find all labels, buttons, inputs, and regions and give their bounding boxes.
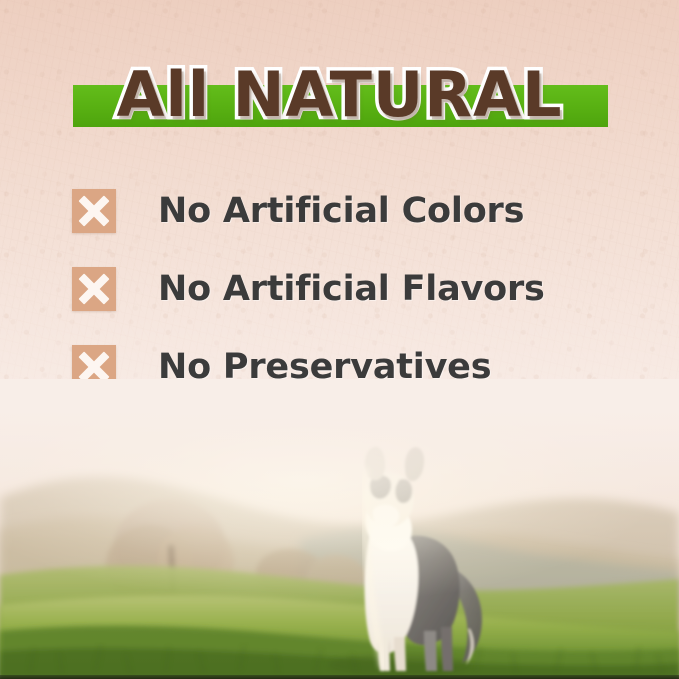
- banner-title: All NATURAL: [0, 50, 679, 140]
- photo-bottom-edge: [0, 675, 679, 679]
- x-mark-icon: [72, 189, 116, 233]
- banner: All NATURAL: [0, 50, 679, 140]
- claim-label: No Artificial Colors: [158, 191, 524, 231]
- photo-artwork: [0, 379, 679, 679]
- claim-item: No Artificial Flavors: [72, 250, 612, 328]
- poster-root: All NATURAL No Artificial Colors No Arti…: [0, 0, 679, 679]
- claim-item: No Artificial Colors: [72, 172, 612, 250]
- x-mark-icon: [72, 267, 116, 311]
- landscape-photo: [0, 379, 679, 679]
- claim-label: No Artificial Flavors: [158, 269, 545, 309]
